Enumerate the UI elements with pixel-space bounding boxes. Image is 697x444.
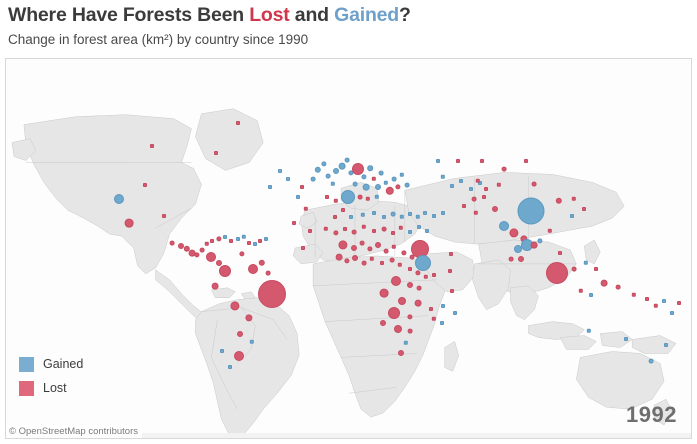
map-bubble-gained[interactable] bbox=[662, 299, 666, 303]
chart-header: Where Have Forests Been Lost and Gained?… bbox=[8, 2, 693, 50]
map-bubble-lost[interactable] bbox=[594, 267, 598, 271]
map-bubble-gained[interactable] bbox=[278, 169, 282, 173]
map-bubble-lost[interactable] bbox=[266, 271, 271, 276]
map-bubble-gained[interactable] bbox=[589, 293, 593, 297]
map-bubble-lost[interactable] bbox=[482, 195, 486, 199]
map-bubble-gained[interactable] bbox=[114, 194, 124, 204]
map-bubble-lost[interactable] bbox=[336, 254, 343, 261]
map-bubble-lost[interactable] bbox=[390, 258, 395, 263]
map-bubble-lost[interactable] bbox=[237, 331, 243, 337]
map-attribution[interactable]: © OpenStreetMap contributors bbox=[6, 425, 142, 438]
map-bubble-gained[interactable] bbox=[223, 235, 227, 239]
map-bubble-gained[interactable] bbox=[253, 242, 257, 246]
map-bubble-gained[interactable] bbox=[311, 177, 316, 182]
map-bubble-gained[interactable] bbox=[432, 214, 436, 218]
legend-item-gained[interactable]: Gained bbox=[19, 354, 83, 374]
map-bubble-gained[interactable] bbox=[236, 237, 240, 241]
map-bubble-lost[interactable] bbox=[582, 207, 586, 211]
map-bubble-gained[interactable] bbox=[363, 184, 370, 191]
title-segment-mid: and bbox=[290, 4, 335, 26]
map-bubble-lost[interactable] bbox=[236, 121, 240, 125]
map-bubble-lost[interactable] bbox=[601, 280, 608, 287]
map-bubble-lost[interactable] bbox=[456, 159, 460, 163]
map-bubble-gained[interactable] bbox=[408, 212, 412, 216]
map-bubble-lost[interactable] bbox=[408, 267, 412, 271]
map-bubble-gained[interactable] bbox=[228, 365, 232, 369]
map-bubble-lost[interactable] bbox=[484, 187, 488, 191]
map-bubble-lost[interactable] bbox=[162, 214, 166, 218]
map-bubble-gained[interactable] bbox=[459, 179, 463, 183]
map-bubble-lost[interactable] bbox=[352, 163, 364, 175]
map-bubble-gained[interactable] bbox=[405, 183, 410, 188]
map-bubble-lost[interactable] bbox=[143, 183, 147, 187]
map-bubble-lost[interactable] bbox=[472, 197, 477, 202]
map-bubble-lost[interactable] bbox=[432, 273, 436, 277]
map-bubble-gained[interactable] bbox=[220, 349, 224, 353]
map-bubble-lost[interactable] bbox=[362, 261, 367, 266]
year-label: 1992 bbox=[626, 402, 677, 428]
map-bubble-gained[interactable] bbox=[441, 304, 445, 308]
map-bubble-lost[interactable] bbox=[170, 241, 175, 246]
map-bubble-gained[interactable] bbox=[441, 211, 445, 215]
map-bubble-lost[interactable] bbox=[300, 185, 304, 189]
map-bubble-lost[interactable] bbox=[234, 351, 244, 361]
map-bubble-gained[interactable] bbox=[624, 337, 628, 341]
map-bubble-lost[interactable] bbox=[449, 252, 453, 256]
map-bubble-gained[interactable] bbox=[469, 187, 473, 191]
map-bubble-lost[interactable] bbox=[325, 195, 329, 199]
map-bubble-gained[interactable] bbox=[339, 163, 346, 170]
map-bubble-lost[interactable] bbox=[384, 249, 389, 254]
map-bubble-lost[interactable] bbox=[375, 242, 381, 248]
map-bubble-gained[interactable] bbox=[670, 311, 674, 315]
map-bubble-lost[interactable] bbox=[372, 229, 376, 233]
map-bubble-lost[interactable] bbox=[415, 300, 422, 307]
map-bubble-gained[interactable] bbox=[333, 168, 339, 174]
map-bubble-lost[interactable] bbox=[247, 241, 251, 245]
map-bubble-lost[interactable] bbox=[200, 248, 205, 253]
map-bubble-lost[interactable] bbox=[410, 255, 415, 260]
map-bubble-lost[interactable] bbox=[450, 289, 454, 293]
map-bubble-gained[interactable] bbox=[425, 229, 429, 233]
map-bubble-gained[interactable] bbox=[518, 198, 545, 225]
title-segment-post: ? bbox=[399, 4, 411, 26]
map-bubble-lost[interactable] bbox=[492, 206, 498, 212]
map-legend: Gained Lost bbox=[19, 354, 83, 402]
map-bubble-gained[interactable] bbox=[268, 185, 272, 189]
map-bubble-gained[interactable] bbox=[286, 177, 290, 181]
map-bubble-lost[interactable] bbox=[524, 159, 528, 163]
map-bubble-lost[interactable] bbox=[301, 246, 305, 250]
map-bubble-gained[interactable] bbox=[417, 225, 421, 229]
map-bubble-lost[interactable] bbox=[616, 285, 621, 290]
map-bubble-lost[interactable] bbox=[546, 262, 568, 284]
title-segment-lost: Lost bbox=[249, 4, 289, 26]
map-bubble-gained[interactable] bbox=[326, 174, 331, 179]
map-bubble-lost[interactable] bbox=[125, 219, 134, 228]
map-bubble-gained[interactable] bbox=[664, 343, 668, 347]
map-bubble-lost[interactable] bbox=[429, 307, 433, 311]
map-bubble-gained[interactable] bbox=[345, 158, 350, 163]
map-bubble-lost[interactable] bbox=[518, 256, 524, 262]
map-bubble-lost[interactable] bbox=[258, 280, 286, 308]
map-basemap[interactable] bbox=[6, 59, 691, 438]
map-bubble-lost[interactable] bbox=[380, 261, 384, 265]
map-bubble-gained[interactable] bbox=[296, 195, 300, 199]
map-bubble-lost[interactable] bbox=[214, 151, 218, 155]
map-bubble-lost[interactable] bbox=[558, 251, 562, 255]
map-bubble-lost[interactable] bbox=[382, 227, 387, 232]
forest-change-map-visualization: Where Have Forests Been Lost and Gained?… bbox=[0, 0, 697, 444]
map-bubble-lost[interactable] bbox=[408, 329, 413, 334]
legend-swatch-gained bbox=[19, 357, 34, 372]
map-bubble-gained[interactable] bbox=[341, 190, 355, 204]
map-bubble-gained[interactable] bbox=[415, 255, 431, 271]
page-title: Where Have Forests Been Lost and Gained? bbox=[8, 2, 693, 28]
page-subtitle: Change in forest area (km²) by country s… bbox=[8, 30, 693, 50]
legend-item-lost[interactable]: Lost bbox=[19, 378, 83, 398]
map-bubble-lost[interactable] bbox=[532, 182, 537, 187]
map-bubble-gained[interactable] bbox=[570, 214, 574, 218]
map-bubble-lost[interactable] bbox=[531, 242, 538, 249]
map-bubble-gained[interactable] bbox=[514, 245, 522, 253]
map-bubble-gained[interactable] bbox=[649, 359, 654, 364]
map-bubble-gained[interactable] bbox=[423, 211, 427, 215]
map-bubble-gained[interactable] bbox=[436, 159, 440, 163]
map-bubble-lost[interactable] bbox=[391, 276, 401, 286]
map-bubble-lost[interactable] bbox=[462, 204, 466, 208]
map-bubble-gained[interactable] bbox=[408, 230, 412, 234]
map-bubble-gained[interactable] bbox=[499, 221, 509, 231]
map-bubble-gained[interactable] bbox=[367, 165, 373, 171]
map-bubble-lost[interactable] bbox=[258, 239, 262, 243]
map-bubble-lost[interactable] bbox=[210, 239, 214, 243]
map-bubble-lost[interactable] bbox=[229, 239, 233, 243]
map-bubble-lost[interactable] bbox=[343, 227, 347, 231]
map-bubble-lost[interactable] bbox=[572, 267, 577, 272]
map-bubble-gained[interactable] bbox=[450, 184, 454, 188]
title-segment-gained: Gained bbox=[334, 4, 399, 26]
map-bubble-lost[interactable] bbox=[248, 264, 258, 274]
map-frame[interactable]: Gained Lost 1992 © OpenStreetMap contrib… bbox=[5, 58, 692, 439]
map-bubble-lost[interactable] bbox=[351, 245, 357, 251]
map-bubble-lost[interactable] bbox=[398, 350, 404, 356]
map-bubble-lost[interactable] bbox=[407, 282, 413, 288]
title-segment-pre: Where Have Forests Been bbox=[8, 4, 249, 26]
map-bubble-gained[interactable] bbox=[391, 212, 396, 217]
map-bubble-lost[interactable] bbox=[480, 159, 484, 163]
map-bubble-lost[interactable] bbox=[502, 167, 507, 172]
map-bubble-lost[interactable] bbox=[352, 230, 357, 235]
map-bubble-lost[interactable] bbox=[333, 215, 337, 219]
map-bubble-gained[interactable] bbox=[379, 171, 384, 176]
map-bubble-lost[interactable] bbox=[391, 231, 395, 235]
legend-label-gained: Gained bbox=[43, 357, 83, 371]
map-bubble-lost[interactable] bbox=[380, 320, 386, 326]
map-bubble-lost[interactable] bbox=[341, 208, 345, 212]
map-bubble-lost[interactable] bbox=[645, 297, 649, 301]
map-bubble-lost[interactable] bbox=[292, 221, 296, 225]
map-bubble-lost[interactable] bbox=[398, 297, 406, 305]
map-bubble-lost[interactable] bbox=[352, 255, 358, 261]
map-bubble-gained[interactable] bbox=[382, 215, 386, 219]
map-bubble-lost[interactable] bbox=[206, 252, 216, 262]
map-bubble-lost[interactable] bbox=[380, 289, 389, 298]
map-bubble-lost[interactable] bbox=[360, 241, 365, 246]
map-bubble-lost[interactable] bbox=[219, 265, 231, 277]
map-bubble-lost[interactable] bbox=[448, 269, 452, 273]
map-bubble-lost[interactable] bbox=[388, 307, 400, 319]
map-bubble-gained[interactable] bbox=[353, 182, 358, 187]
map-bubble-lost[interactable] bbox=[212, 283, 219, 290]
map-bubble-gained[interactable] bbox=[375, 184, 381, 190]
map-bubble-gained[interactable] bbox=[372, 211, 376, 215]
map-bubble-lost[interactable] bbox=[358, 195, 363, 200]
map-bubble-gained[interactable] bbox=[440, 321, 444, 325]
map-bubble-lost[interactable] bbox=[150, 144, 154, 148]
legend-swatch-lost bbox=[19, 381, 34, 396]
map-bubble-gained[interactable] bbox=[392, 177, 397, 182]
map-bubble-lost[interactable] bbox=[417, 286, 422, 291]
map-bubble-gained[interactable] bbox=[453, 311, 457, 315]
map-bubble-lost[interactable] bbox=[308, 229, 312, 233]
map-bubble-lost[interactable] bbox=[677, 301, 681, 305]
map-bubble-gained[interactable] bbox=[349, 215, 353, 219]
map-bubble-gained[interactable] bbox=[264, 237, 268, 241]
legend-label-lost: Lost bbox=[43, 381, 67, 395]
map-bubble-lost[interactable] bbox=[509, 257, 514, 262]
map-bubble-lost[interactable] bbox=[394, 325, 402, 333]
